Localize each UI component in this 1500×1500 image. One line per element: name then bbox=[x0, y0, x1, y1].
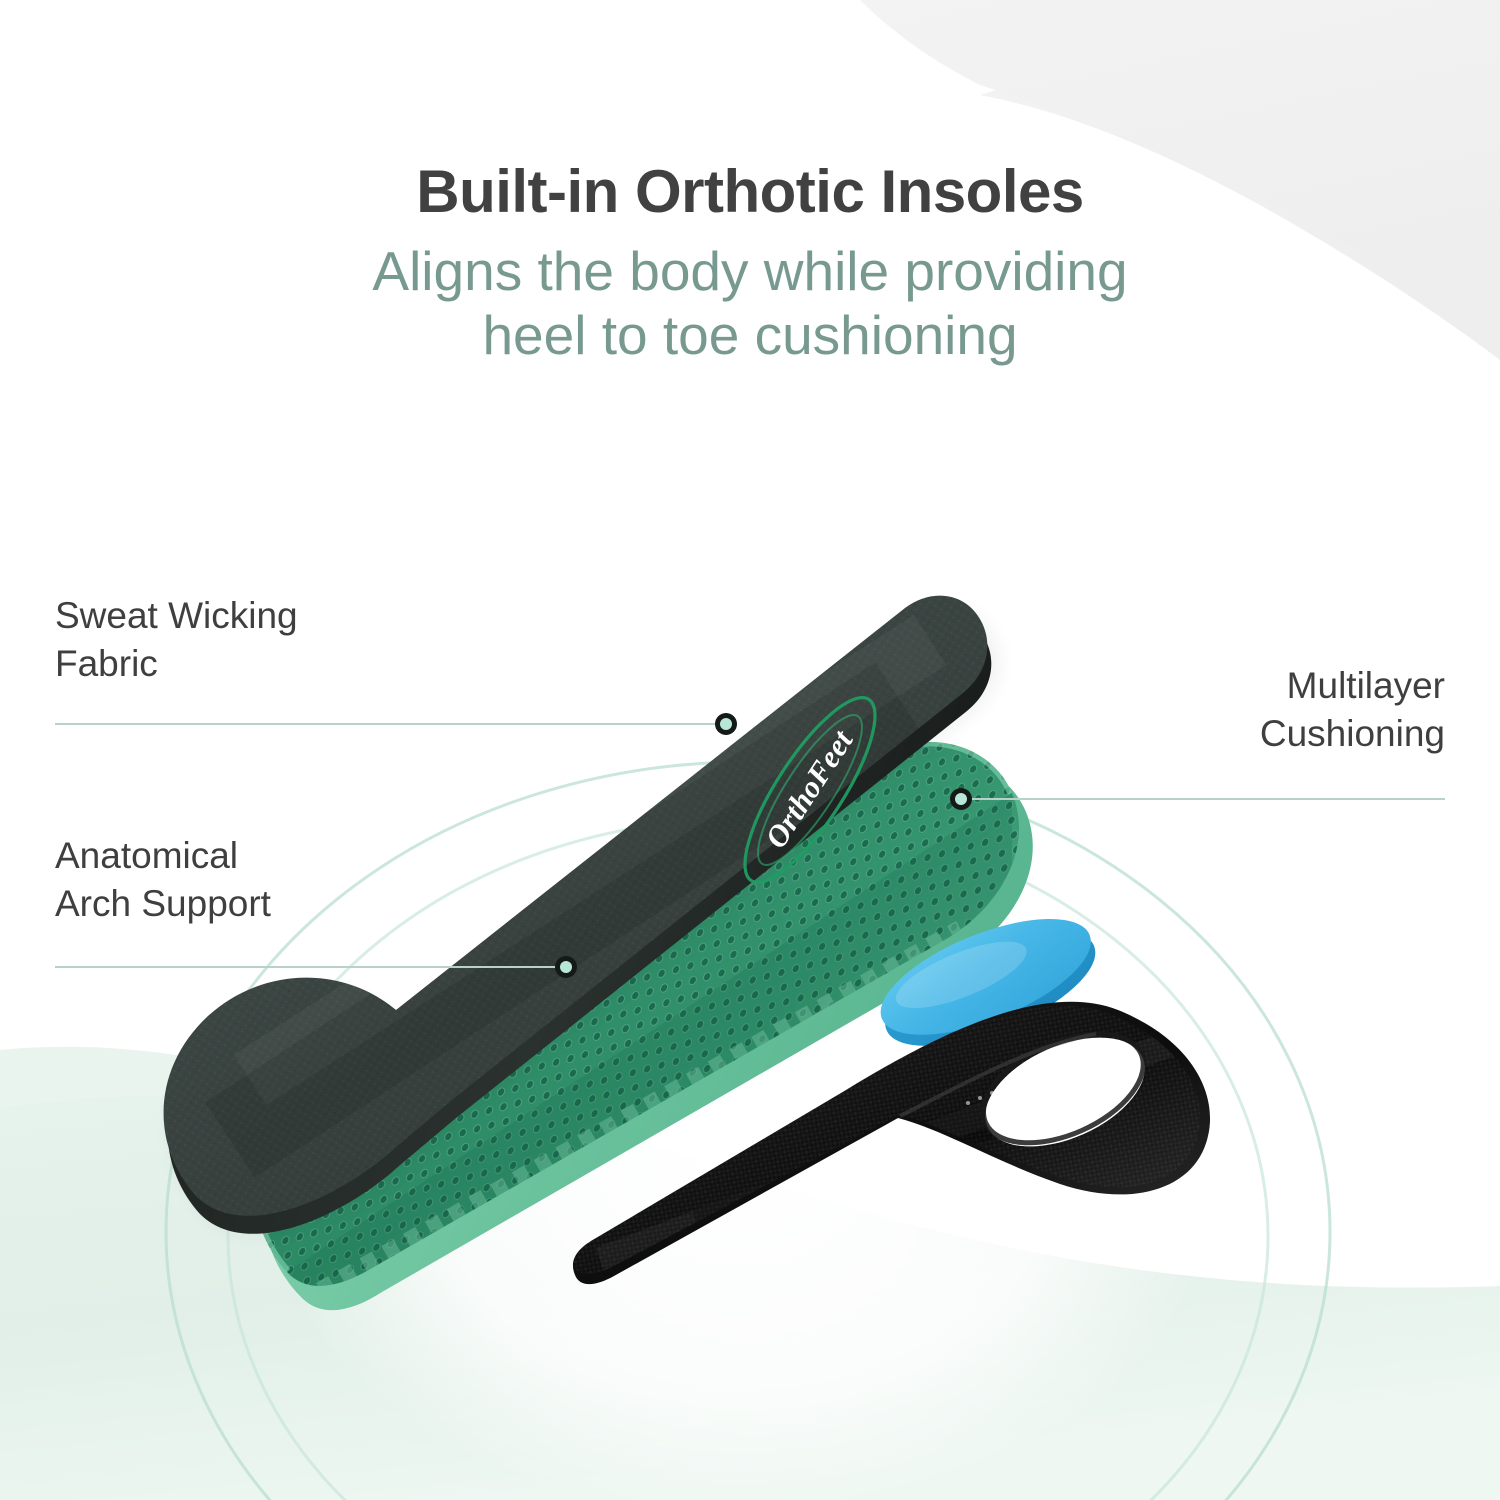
callout-sweat-wicking-fabric: Sweat Wicking Fabric bbox=[55, 592, 535, 688]
page-subtitle-line-1: Aligns the body while providing bbox=[0, 239, 1500, 303]
callout-label-sweat-wicking-fabric: Sweat Wicking Fabric bbox=[55, 592, 535, 688]
infographic-canvas: OrthoFeet bbox=[0, 0, 1500, 1500]
callout-label-anatomical-arch-support: Anatomical Arch Support bbox=[55, 832, 535, 928]
page-subtitle: Aligns the body while providing heel to … bbox=[0, 239, 1500, 368]
heading-block: Built-in Orthotic Insoles Aligns the bod… bbox=[0, 160, 1500, 367]
callout-multilayer-cushioning: Multilayer Cushioning bbox=[985, 662, 1445, 758]
page-title: Built-in Orthotic Insoles bbox=[0, 160, 1500, 225]
page-subtitle-line-2: heel to toe cushioning bbox=[0, 303, 1500, 367]
callout-anatomical-arch-support: Anatomical Arch Support bbox=[55, 832, 535, 928]
callout-label-multilayer-cushioning: Multilayer Cushioning bbox=[985, 662, 1445, 758]
